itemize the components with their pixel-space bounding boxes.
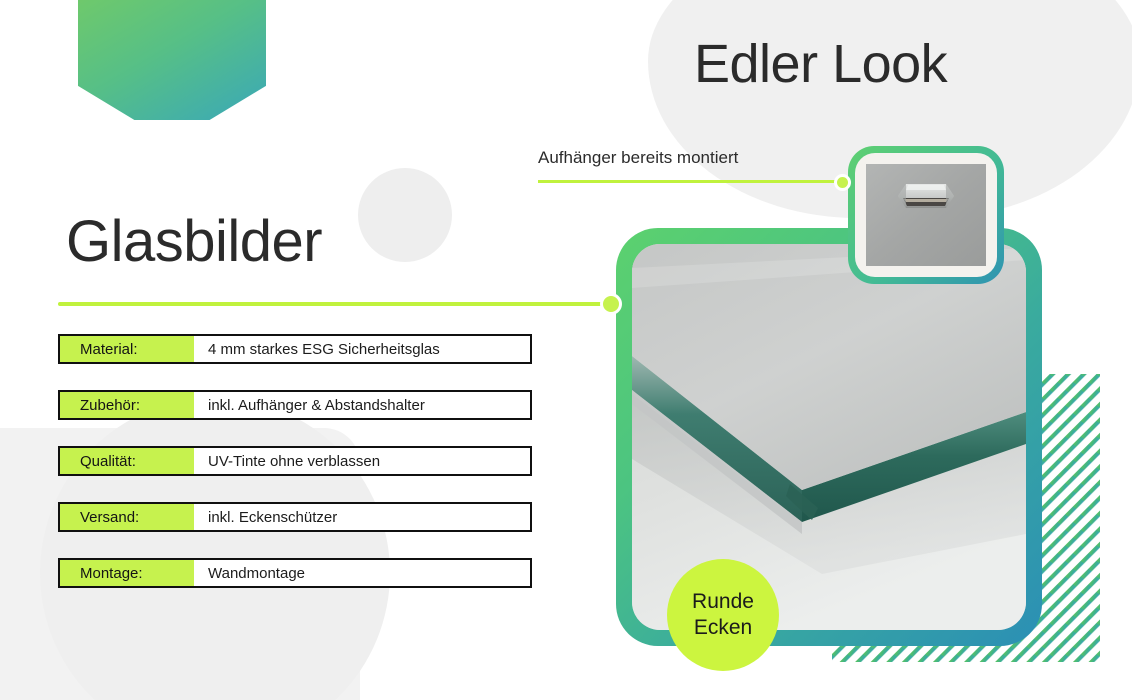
spec-value: inkl. Eckenschützer xyxy=(194,504,530,530)
shield-banner-icon xyxy=(78,0,266,120)
poster-canvas: Glasbilder Edler Look Aufhänger bereits … xyxy=(0,0,1132,700)
badge-line-2: Ecken xyxy=(694,615,752,641)
hanger-photo xyxy=(866,164,986,266)
secondary-title: Edler Look xyxy=(694,33,947,95)
spec-label: Material: xyxy=(60,336,194,362)
spec-label: Montage: xyxy=(60,560,194,586)
title-underline-rule xyxy=(58,302,608,306)
runde-ecken-badge: Runde Ecken xyxy=(667,559,779,671)
callout-label: Aufhänger bereits montiert xyxy=(538,148,738,168)
spec-value: UV-Tinte ohne verblassen xyxy=(194,448,530,474)
table-row: Versand: inkl. Eckenschützer xyxy=(58,502,532,532)
spec-value: 4 mm starkes ESG Sicherheitsglas xyxy=(194,336,530,362)
hanger-detail-frame xyxy=(848,146,1004,284)
page-title: Glasbilder xyxy=(66,208,322,275)
spec-label: Zubehör: xyxy=(60,392,194,418)
spec-label: Qualität: xyxy=(60,448,194,474)
table-row: Qualität: UV-Tinte ohne verblassen xyxy=(58,446,532,476)
title-rule-dot-icon xyxy=(600,293,622,315)
spec-label: Versand: xyxy=(60,504,194,530)
badge-line-1: Runde xyxy=(692,589,754,615)
table-row: Zubehör: inkl. Aufhänger & Abstandshalte… xyxy=(58,390,532,420)
callout-connector-line xyxy=(538,180,844,183)
hanger-detail-mat xyxy=(855,153,997,277)
spec-value: Wandmontage xyxy=(194,560,530,586)
background-circle-mid xyxy=(358,168,452,262)
callout-dot-icon xyxy=(834,174,851,191)
spec-value: inkl. Aufhänger & Abstandshalter xyxy=(194,392,530,418)
table-row: Material: 4 mm starkes ESG Sicherheitsgl… xyxy=(58,334,532,364)
spec-table: Material: 4 mm starkes ESG Sicherheitsgl… xyxy=(58,334,532,614)
table-row: Montage: Wandmontage xyxy=(58,558,532,588)
